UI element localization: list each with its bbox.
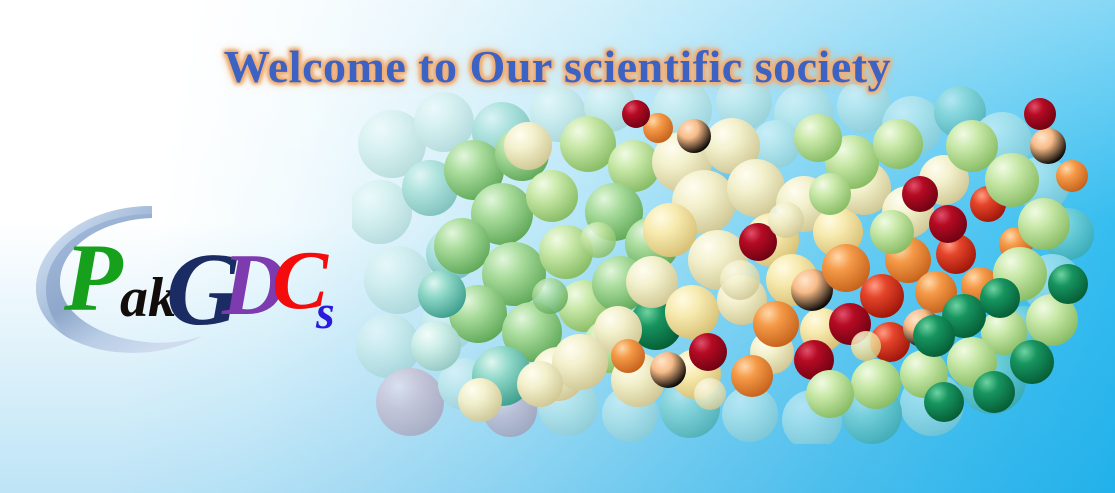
- welcome-banner: Welcome to Our scientific society: [0, 0, 1115, 493]
- logo-letter-p: P: [63, 224, 124, 331]
- welcome-title-text: Welcome to Our scientific society: [224, 40, 891, 93]
- molecule-svg: [352, 84, 1115, 444]
- page-title: Welcome to Our scientific society: [0, 40, 1115, 93]
- logo-letter-s: s: [315, 286, 335, 339]
- site-logo[interactable]: P ak G D C s: [24, 192, 344, 364]
- logo-svg: P ak G D C s: [24, 192, 344, 364]
- space-filling-molecular-model: [352, 84, 1115, 444]
